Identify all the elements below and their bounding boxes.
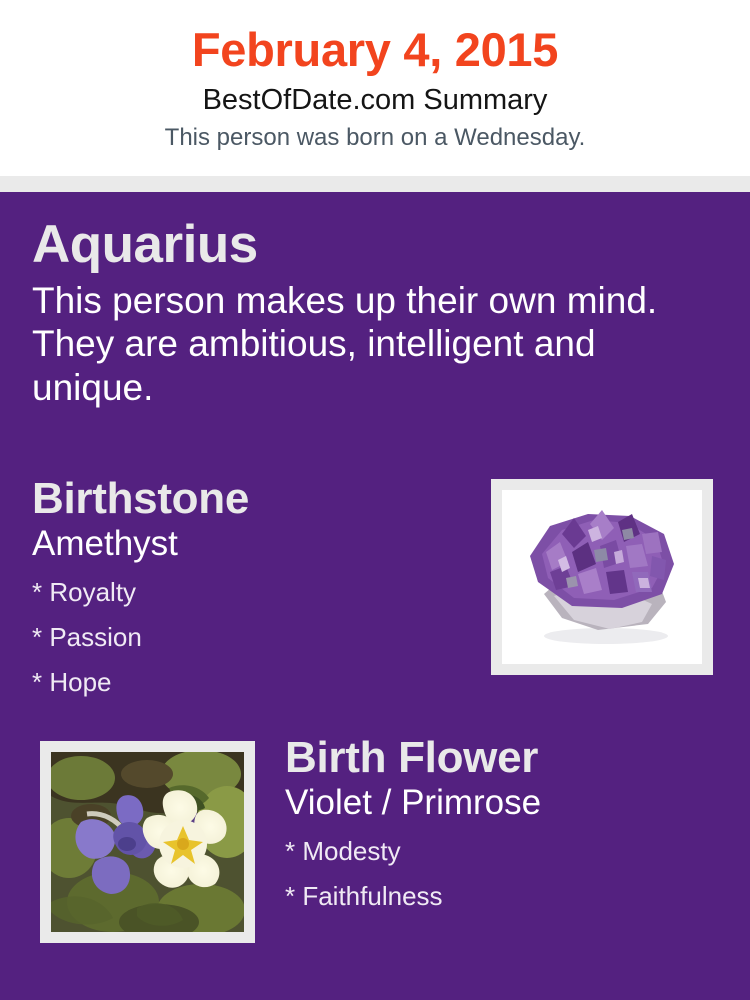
zodiac-sign-name: Aquarius: [32, 217, 692, 273]
header-divider: [0, 176, 750, 192]
birthstone-trait-list: * Royalty * Passion * Hope: [32, 564, 472, 704]
site-summary-label: BestOfDate.com Summary: [0, 77, 750, 117]
birth-flower-title: Birth Flower: [285, 734, 725, 782]
page-title-date: February 4, 2015: [0, 0, 750, 77]
birth-flower-name: Violet / Primrose: [285, 782, 725, 823]
list-item: * Passion: [32, 615, 472, 660]
list-item: * Modesty: [285, 829, 725, 874]
header: February 4, 2015 BestOfDate.com Summary …: [0, 0, 750, 176]
amethyst-crystal-icon: [502, 490, 702, 664]
zodiac-section: Aquarius This person makes up their own …: [32, 217, 692, 409]
zodiac-description: This person makes up their own mind. The…: [32, 273, 692, 409]
birthstone-section: Birthstone Amethyst * Royalty * Passion …: [32, 475, 472, 704]
summary-card: February 4, 2015 BestOfDate.com Summary …: [0, 0, 750, 1000]
list-item: * Hope: [32, 660, 472, 705]
birthstone-photo: [502, 490, 702, 664]
violet-primrose-flower-icon: [51, 752, 244, 932]
list-item: * Royalty: [32, 570, 472, 615]
birthstone-title: Birthstone: [32, 475, 472, 523]
weekday-statement: This person was born on a Wednesday.: [0, 117, 750, 152]
birth-flower-section: Birth Flower Violet / Primrose * Modesty…: [285, 734, 725, 919]
birthstone-photo-frame: [491, 479, 713, 675]
birth-flower-photo: [51, 752, 244, 932]
list-item: * Faithfulness: [285, 874, 725, 919]
birth-flower-trait-list: * Modesty * Faithfulness: [285, 823, 725, 918]
details-panel: Aquarius This person makes up their own …: [0, 192, 750, 1000]
birthstone-name: Amethyst: [32, 523, 472, 564]
birth-flower-photo-frame: [40, 741, 255, 943]
